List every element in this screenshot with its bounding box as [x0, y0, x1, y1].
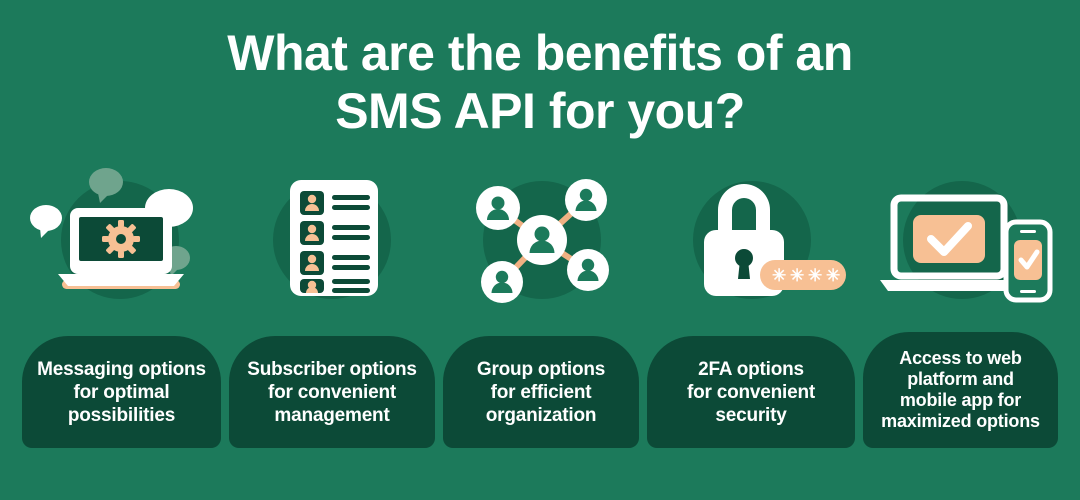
benefit-card-label: Messaging options for optimal possibilit… — [37, 358, 206, 427]
laptop-gear-chat-icon — [14, 160, 226, 320]
svg-text:✳: ✳ — [790, 266, 804, 285]
icon-cell-access — [856, 160, 1068, 320]
benefit-card-label: Group options for efficient organization — [477, 358, 605, 427]
icon-cell-group — [436, 160, 648, 320]
laptop-mobile-check-icon — [856, 160, 1068, 320]
infographic-canvas: What are the benefits of an SMS API for … — [0, 0, 1080, 500]
benefit-card-label: Access to web platform and mobile app fo… — [881, 348, 1040, 432]
svg-text:✳: ✳ — [826, 266, 840, 285]
subscriber-list-icon — [226, 160, 438, 320]
benefit-card-row: Messaging options for optimal possibilit… — [0, 330, 1080, 455]
title-line-2: SMS API for you? — [0, 82, 1080, 140]
benefit-card-access[interactable]: Access to web platform and mobile app fo… — [863, 332, 1058, 448]
svg-text:✳: ✳ — [772, 266, 786, 285]
icon-cell-messaging — [14, 160, 226, 320]
benefit-card-2fa[interactable]: 2FA options for convenient security — [647, 336, 855, 448]
benefit-card-subscriber[interactable]: Subscriber options for convenient manage… — [229, 336, 435, 448]
benefit-card-messaging[interactable]: Messaging options for optimal possibilit… — [22, 336, 221, 448]
page-title: What are the benefits of an SMS API for … — [0, 24, 1080, 140]
benefit-card-group[interactable]: Group options for efficient organization — [443, 336, 639, 448]
icon-cell-subscriber — [226, 160, 438, 320]
icon-row: ✳ ✳ ✳ ✳ — [0, 160, 1080, 320]
svg-text:✳: ✳ — [808, 266, 822, 285]
benefit-card-label: 2FA options for convenient security — [687, 358, 815, 427]
icon-cell-2fa: ✳ ✳ ✳ ✳ — [646, 160, 858, 320]
user-network-icon — [436, 160, 648, 320]
title-line-1: What are the benefits of an — [227, 25, 852, 81]
benefit-card-label: Subscriber options for convenient manage… — [247, 358, 417, 427]
padlock-password-icon: ✳ ✳ ✳ ✳ — [646, 160, 858, 320]
